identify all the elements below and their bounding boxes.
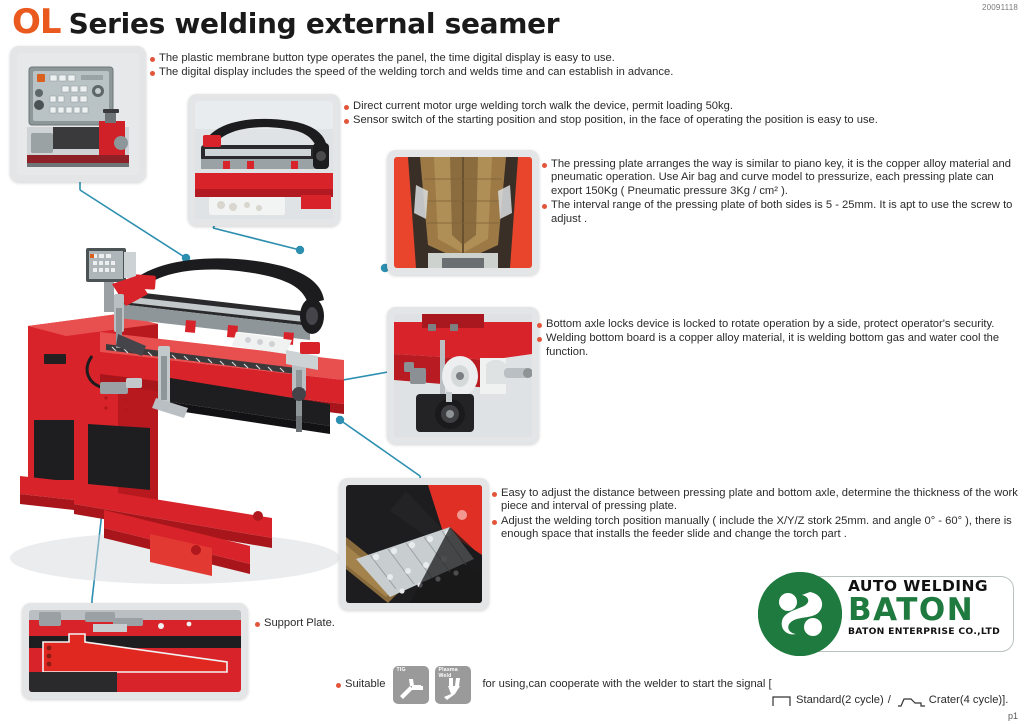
suitable-lead-text: Suitable xyxy=(345,678,385,691)
title-text: Series welding external seamer xyxy=(69,10,560,38)
main-machine-art xyxy=(0,228,400,593)
photo-pressing-plate xyxy=(387,150,539,275)
callout-pressing-plate: The pressing plate arranges the way is s… xyxy=(542,158,1022,227)
bullet-dot-icon xyxy=(542,204,547,209)
baton-mark-icon xyxy=(758,572,842,656)
plasma-process-icon: Plasma Weld xyxy=(435,666,471,704)
bullet-item: Easy to adjust the distance between pres… xyxy=(492,487,1024,514)
bullet-text: Direct current motor urge welding torch … xyxy=(353,100,733,113)
tig-process-icon: TIG xyxy=(393,666,429,704)
bullet-item: Welding bottom board is a copper alloy m… xyxy=(537,332,1024,359)
bullet-dot-icon xyxy=(492,492,497,497)
bullet-dot-icon xyxy=(492,520,497,525)
photo-bottom-axle-art xyxy=(394,314,532,437)
photo-support-plate-art xyxy=(29,610,241,692)
signal-separator: / xyxy=(888,694,891,707)
bullet-text: The interval range of the pressing plate… xyxy=(551,199,1022,226)
bullet-item: The digital display includes the speed o… xyxy=(150,66,690,79)
callout-torch-carriage: Direct current motor urge welding torch … xyxy=(344,100,904,129)
crater-cycle-label: Crater(4 cycle)]. xyxy=(929,694,1009,707)
bullet-item: Bottom axle locks device is locked to ro… xyxy=(537,318,1024,331)
logo-line-baton: BATON xyxy=(848,595,1013,626)
photo-main-machine xyxy=(0,228,400,593)
bullet-text: The digital display includes the speed o… xyxy=(159,66,673,79)
bullet-item: The interval range of the pressing plate… xyxy=(542,199,1022,226)
bullet-item: Sensor switch of the starting position a… xyxy=(344,114,904,127)
bullet-dot-icon xyxy=(150,57,155,62)
bullet-dot-icon xyxy=(542,163,547,168)
standard-cycle-label: Standard(2 cycle) xyxy=(796,694,884,707)
crater-cycle-waveform-icon xyxy=(897,694,927,708)
brochure-page: 20091118 OL Series welding external seam… xyxy=(0,0,1024,724)
photo-torch-carriage-art xyxy=(195,101,333,219)
bullet-text: Bottom axle locks device is locked to ro… xyxy=(546,318,994,331)
company-logo: AUTO WELDING BATON BATON ENTERPRISE CO.,… xyxy=(758,572,1016,658)
photo-torch-carriage xyxy=(188,94,340,226)
callout-support-plate: Support Plate. xyxy=(255,617,455,631)
bullet-text: Adjust the welding torch position manual… xyxy=(501,515,1024,542)
document-code: 20091118 xyxy=(982,3,1018,12)
bullet-item: Support Plate. xyxy=(255,617,455,630)
logo-line-company: BATON ENTERPRISE CO.,LTD xyxy=(848,626,1013,638)
bullet-item: Direct current motor urge welding torch … xyxy=(344,100,904,113)
title-series-code: OL xyxy=(12,5,61,39)
logo-text-block: AUTO WELDING BATON BATON ENTERPRISE CO.,… xyxy=(848,578,1013,638)
bullet-dot-icon xyxy=(344,119,349,124)
bullet-dot-icon xyxy=(255,622,260,627)
bullet-text: The plastic membrane button type operate… xyxy=(159,52,615,65)
photo-control-panel xyxy=(10,46,146,182)
bullet-dot-icon xyxy=(344,105,349,110)
suitable-tail-text: for using,can cooperate with the welder … xyxy=(482,678,771,691)
page-title: OL Series welding external seamer xyxy=(12,5,559,39)
bullet-text: Easy to adjust the distance between pres… xyxy=(501,487,1024,514)
plasma-torch-icon xyxy=(439,675,467,701)
photo-bottom-axle xyxy=(387,307,539,444)
callout-bottom-axle: Bottom axle locks device is locked to ro… xyxy=(537,318,1024,360)
signal-symbols-row: Standard(2 cycle) / Crater(4 cycle)]. xyxy=(770,694,1008,708)
callout-control-panel: The plastic membrane button type operate… xyxy=(150,52,690,81)
bullet-item: The pressing plate arranges the way is s… xyxy=(542,158,1022,198)
bullet-text: Welding bottom board is a copper alloy m… xyxy=(546,332,1024,359)
page-number: p1 xyxy=(1008,711,1018,721)
standard-cycle-waveform-icon xyxy=(772,694,794,708)
photo-support-plate xyxy=(22,603,248,699)
baton-mark-glyph xyxy=(758,572,842,656)
callout-adjustment: Easy to adjust the distance between pres… xyxy=(492,487,1024,543)
bullet-dot-icon xyxy=(537,323,542,328)
bullet-dot-icon xyxy=(336,683,341,688)
tig-torch-icon xyxy=(397,675,425,701)
bullet-text: Sensor switch of the starting position a… xyxy=(353,114,878,127)
bullet-item: Adjust the welding torch position manual… xyxy=(492,515,1024,542)
bullet-dot-icon xyxy=(537,337,542,342)
tig-icon-label: TIG xyxy=(396,667,405,673)
bullet-item: The plastic membrane button type operate… xyxy=(150,52,690,65)
bullet-text: The pressing plate arranges the way is s… xyxy=(551,158,1022,198)
bullet-text: Support Plate. xyxy=(264,617,335,630)
photo-control-panel-art xyxy=(17,53,139,175)
bullet-dot-icon xyxy=(150,71,155,76)
photo-pressing-plate-art xyxy=(394,157,532,268)
